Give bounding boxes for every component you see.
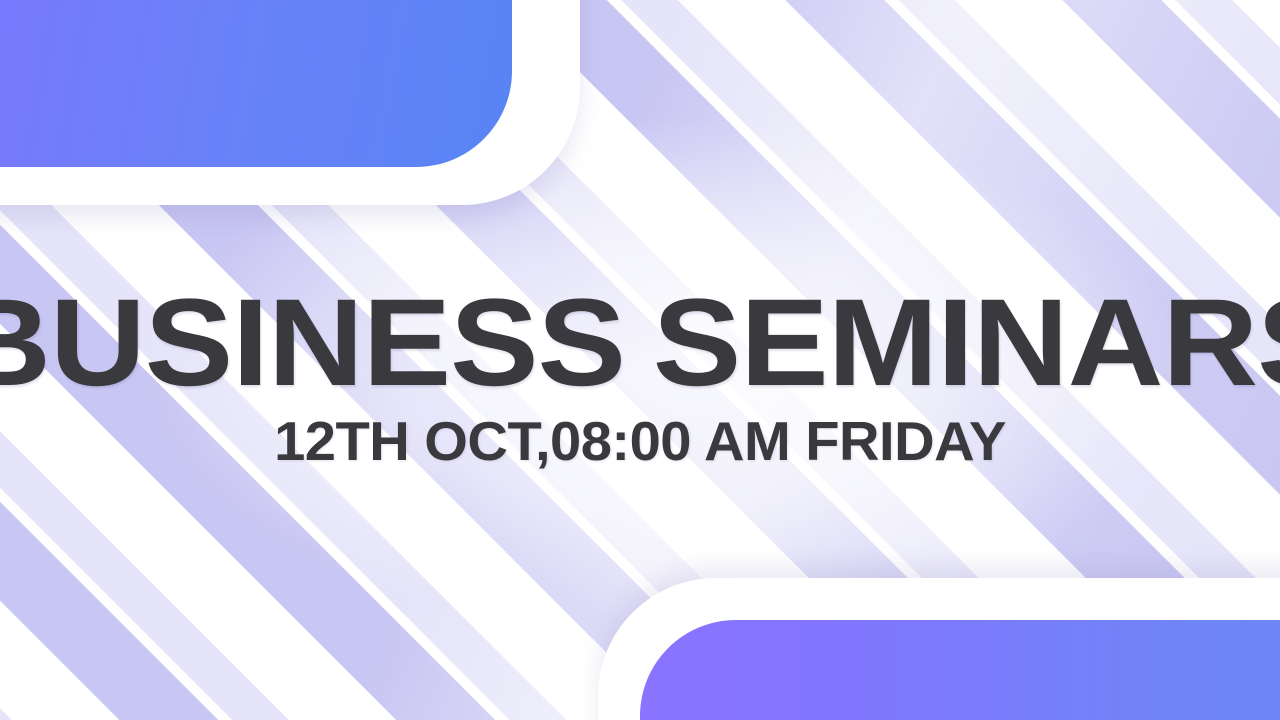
headline-word-seminars: SEMINARS xyxy=(653,274,1280,412)
bottom-right-gradient-shape xyxy=(640,620,1280,720)
poster-text-block: BUSINESSSEMINARS 12TH OCT,08:00 AM FRIDA… xyxy=(0,286,1280,469)
headline-word-business: BUSINESS xyxy=(0,274,625,412)
event-poster: BUSINESSSEMINARS 12TH OCT,08:00 AM FRIDA… xyxy=(0,0,1280,720)
event-datetime: 12TH OCT,08:00 AM FRIDAY xyxy=(0,414,1280,469)
top-left-gradient-shape xyxy=(0,0,512,167)
page-title: BUSINESSSEMINARS xyxy=(0,286,1280,400)
